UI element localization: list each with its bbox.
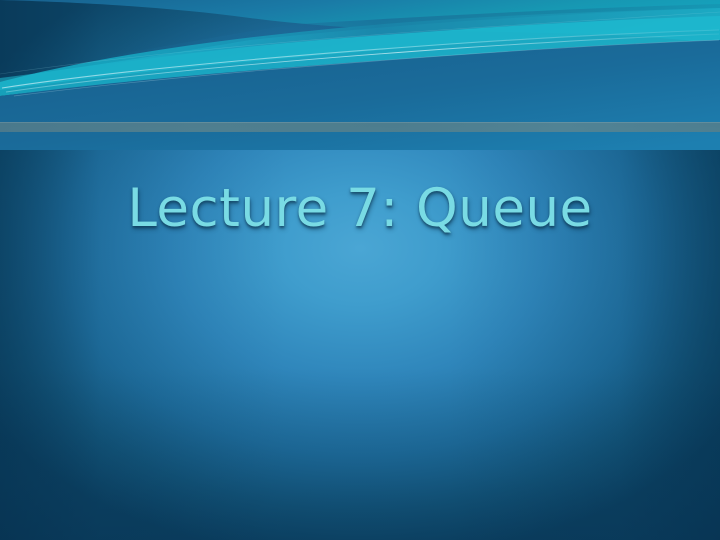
title-placeholder[interactable]: Lecture 7: Queue	[72, 178, 648, 240]
presentation-slide: Lecture 7: Queue	[0, 0, 720, 540]
slide-title[interactable]: Lecture 7: Queue	[72, 178, 648, 240]
horizontal-accent-bar	[0, 122, 720, 132]
